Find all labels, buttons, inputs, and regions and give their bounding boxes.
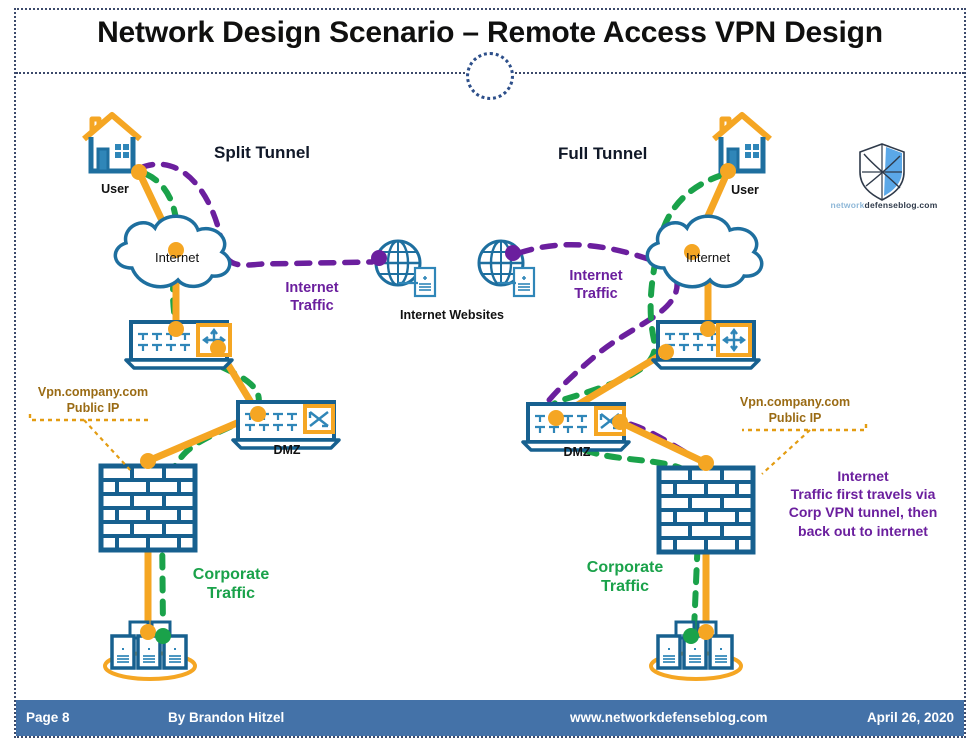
split-tunnel-heading: Split Tunnel xyxy=(214,143,310,163)
page-title: Network Design Scenario – Remote Access … xyxy=(0,16,980,50)
internet-websites-label: Internet Websites xyxy=(388,308,516,322)
right-internet-traffic-legend: Internet Traffic xyxy=(538,267,654,303)
left-internet-traffic-legend: Internet Traffic xyxy=(252,279,372,315)
right-corporate-traffic-legend: Corporate Traffic xyxy=(560,558,690,596)
diagram-artwork xyxy=(0,0,980,752)
site-logo-text: networkdefenseblog.com xyxy=(826,200,942,210)
left-corporate-traffic-legend: Corporate Traffic xyxy=(166,565,296,603)
footer-date: April 26, 2020 xyxy=(867,710,954,725)
left-dmz-label: DMZ xyxy=(270,443,304,457)
site-logo: networkdefenseblog.com xyxy=(826,142,942,222)
slide-border xyxy=(14,8,966,738)
footer-bar: Page 8 By Brandon Hitzel www.networkdefe… xyxy=(16,700,964,736)
right-vpn-public-ip-label: Vpn.company.com Public IP xyxy=(730,395,860,426)
footer-page-number: Page 8 xyxy=(26,710,70,725)
site-logo-text-light: network xyxy=(831,200,865,210)
left-internet-cloud-label: Internet xyxy=(155,250,199,265)
slide-canvas: Network Design Scenario – Remote Access … xyxy=(0,0,980,752)
footer-website: www.networkdefenseblog.com xyxy=(570,710,768,725)
full-tunnel-heading: Full Tunnel xyxy=(558,144,647,164)
left-user-label: User xyxy=(95,182,135,196)
left-vpn-public-ip-label: Vpn.company.com Public IP xyxy=(28,385,158,416)
full-tunnel-note: Internet Traffic first travels via Corp … xyxy=(758,467,968,540)
footer-author: By Brandon Hitzel xyxy=(168,710,284,725)
right-user-label: User xyxy=(725,183,765,197)
right-internet-cloud-label: Internet xyxy=(686,250,730,265)
site-logo-text-bold: defenseblog.com xyxy=(865,200,938,210)
right-dmz-label: DMZ xyxy=(560,445,594,459)
title-divider-circle xyxy=(466,52,514,100)
